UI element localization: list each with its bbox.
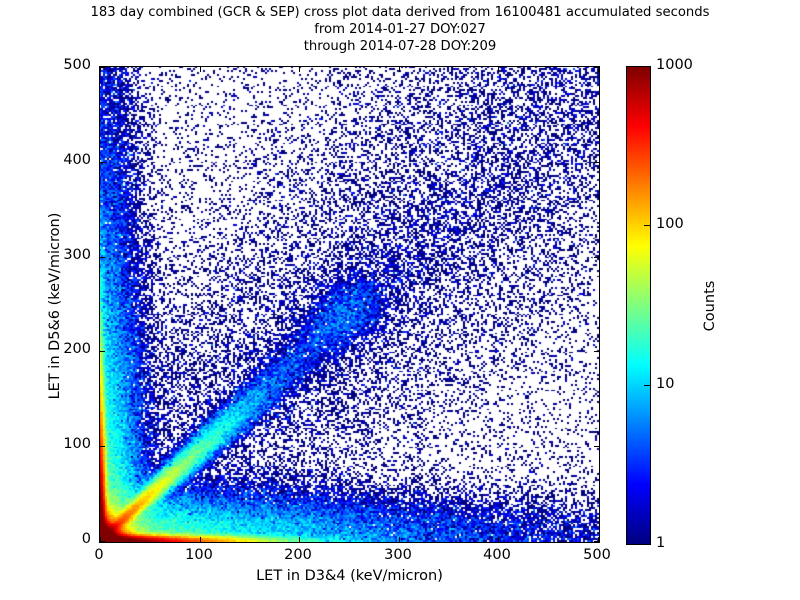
y-tick-right	[594, 257, 599, 258]
colorbar-gradient	[626, 66, 651, 545]
y-tick-left	[100, 446, 105, 447]
x-tick-top	[299, 67, 300, 72]
y-tick-right	[594, 162, 599, 163]
x-tick-label: 400	[462, 547, 532, 563]
colorbar-tick-label: 1000	[656, 57, 693, 73]
title-line-1: 183 day combined (GCR & SEP) cross plot …	[0, 4, 800, 21]
y-tick-right	[594, 446, 599, 447]
chart-title: 183 day combined (GCR & SEP) cross plot …	[0, 4, 800, 55]
title-line-3: through 2014-07-28 DOY:209	[0, 38, 800, 55]
colorbar-tick-label: 10	[656, 376, 674, 392]
x-tick-bottom	[200, 537, 201, 542]
y-tick-left	[100, 162, 105, 163]
x-tick-label: 200	[263, 547, 333, 563]
x-axis-label: LET in D3&4 (keV/micron)	[99, 568, 600, 584]
x-tick-top	[498, 67, 499, 72]
y-tick-left	[100, 257, 105, 258]
x-tick-top	[200, 67, 201, 72]
y-tick-right	[594, 541, 599, 542]
title-line-2: from 2014-01-27 DOY:027	[0, 21, 800, 38]
x-tick-label: 0	[64, 547, 134, 563]
y-axis-label: LET in D5&6 (keV/micron)	[47, 106, 63, 506]
colorbar-tick	[644, 385, 650, 386]
colorbar-label: Counts	[702, 196, 718, 416]
y-tick-label: 0	[29, 531, 91, 547]
x-tick-label: 100	[164, 547, 234, 563]
density-heatmap	[100, 67, 599, 542]
y-tick-left	[100, 541, 105, 542]
colorbar-tick-label: 1	[656, 535, 665, 551]
x-tick-bottom	[299, 537, 300, 542]
figure-canvas: 183 day combined (GCR & SEP) cross plot …	[0, 0, 800, 600]
y-tick-left	[100, 67, 105, 68]
x-tick-label: 500	[562, 547, 632, 563]
y-tick-right	[594, 67, 599, 68]
y-tick-left	[100, 351, 105, 352]
x-tick-top	[399, 67, 400, 72]
x-tick-bottom	[498, 537, 499, 542]
x-tick-bottom	[399, 537, 400, 542]
colorbar-tick	[644, 225, 650, 226]
y-tick-label: 500	[29, 57, 91, 73]
y-tick-right	[594, 351, 599, 352]
colorbar	[626, 66, 651, 545]
x-tick-label: 300	[363, 547, 433, 563]
colorbar-tick-label: 100	[656, 216, 684, 232]
plot-area	[99, 66, 600, 543]
